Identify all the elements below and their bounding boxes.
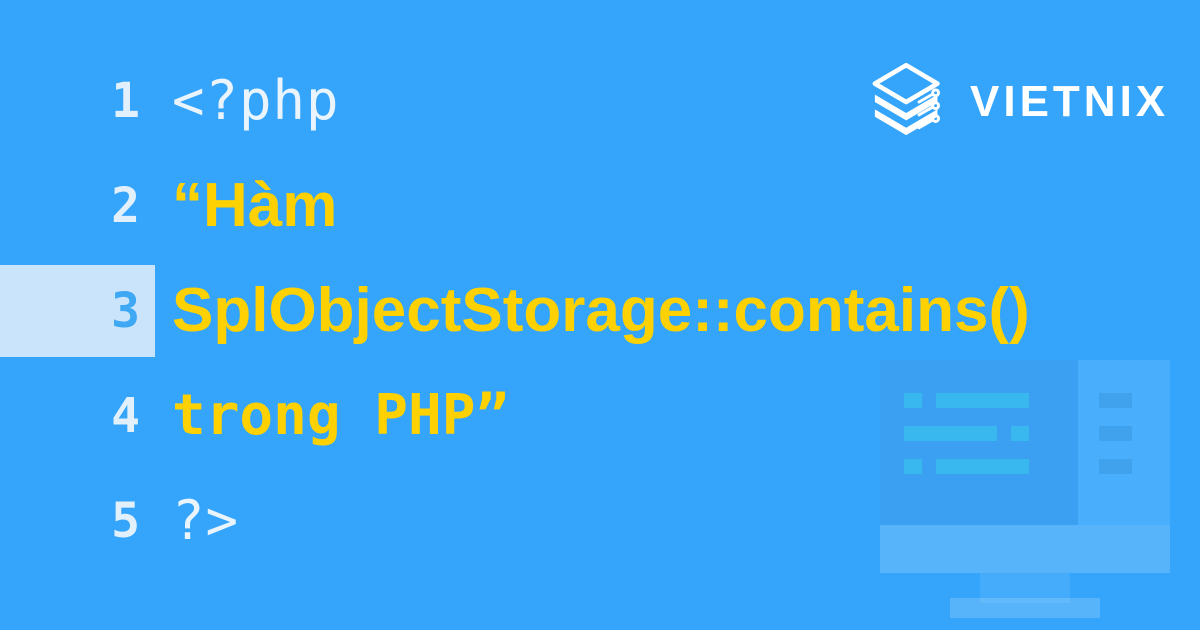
line-gutter-2: 2 xyxy=(0,160,155,252)
monitor-content-bar-1 xyxy=(936,393,1029,408)
monitor-illustration xyxy=(880,360,1190,620)
line-gutter-4: 4 xyxy=(0,370,155,462)
line-number-5: 5 xyxy=(111,497,140,545)
line-number-3: 3 xyxy=(111,287,140,335)
monitor-content-bar-2 xyxy=(904,426,997,441)
code-token-php-close: ?> xyxy=(172,489,239,552)
monitor-content-square-1 xyxy=(904,393,922,408)
line-number-1: 1 xyxy=(111,77,140,125)
line-number-4: 4 xyxy=(111,392,140,440)
code-text-4: trong PHP” xyxy=(155,388,509,444)
code-text-1: <?php xyxy=(155,74,340,128)
code-text-5: ?> xyxy=(155,494,239,548)
title-part-2: SplObjectStorage::contains() xyxy=(172,276,1030,345)
monitor-stand-base xyxy=(950,598,1100,618)
line-gutter-1: 1 xyxy=(0,55,155,147)
code-line-1: 1 <?php xyxy=(0,48,1200,153)
monitor-content-bar-3 xyxy=(936,459,1029,474)
monitor-screen xyxy=(880,360,1170,525)
monitor-bottom-bar xyxy=(880,525,1170,573)
monitor-side-block-2 xyxy=(1099,426,1132,441)
monitor-content-square-2 xyxy=(1011,426,1029,441)
monitor-side-panel xyxy=(1078,360,1170,525)
monitor-side-block-1 xyxy=(1099,393,1132,408)
code-token-php-open: <?php xyxy=(172,69,340,132)
code-line-3: 3 SplObjectStorage::contains() xyxy=(0,258,1200,363)
title-part-1: “Hàm xyxy=(172,171,337,240)
title-part-3: trong PHP” xyxy=(172,383,509,448)
code-text-3: SplObjectStorage::contains() xyxy=(155,280,1030,342)
code-line-2: 2 “Hàm xyxy=(0,153,1200,258)
monitor-side-block-3 xyxy=(1099,459,1132,474)
monitor-main-panel xyxy=(880,360,1078,525)
poster-canvas: VIETNIX 1 <?php 2 “Hàm 3 SplObjectSto xyxy=(0,0,1200,630)
monitor-content-square-3 xyxy=(904,459,922,474)
line-number-2: 2 xyxy=(111,182,140,230)
line-gutter-5: 5 xyxy=(0,475,155,567)
line-gutter-3-active: 3 xyxy=(0,265,155,357)
code-text-2: “Hàm xyxy=(155,175,337,237)
